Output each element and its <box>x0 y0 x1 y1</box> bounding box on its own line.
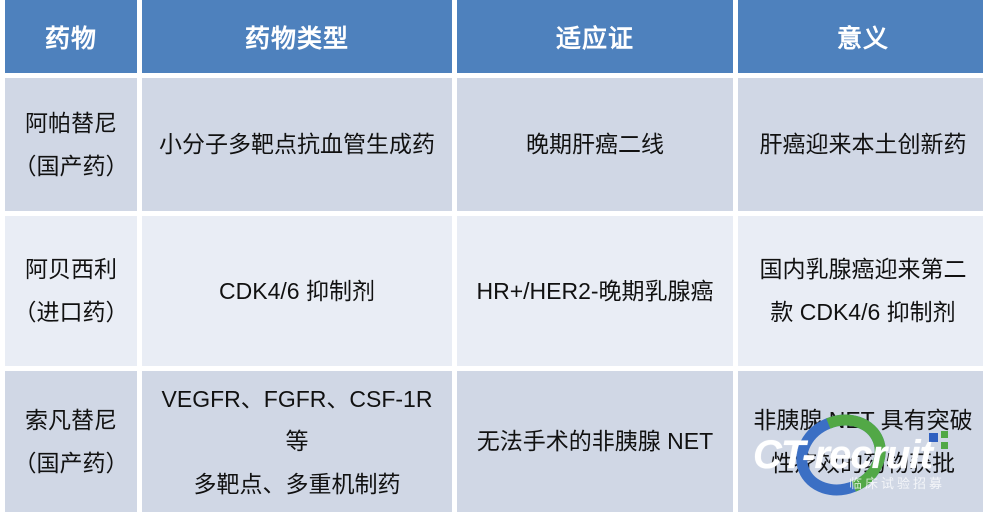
column-header-drug-type: 药物类型 <box>142 0 452 73</box>
significance-line-1: 国内乳腺癌迎来第二 <box>746 248 980 291</box>
significance-line-1: 非胰腺 NET 具有突破 <box>746 399 980 442</box>
cell-indication: HR+/HER2-晚期乳腺癌 <box>457 216 733 366</box>
cell-drug-type: CDK4/6 抑制剂 <box>142 216 452 366</box>
drug-name-text: 阿帕替尼 <box>13 102 129 145</box>
drug-origin-text: （国产药） <box>13 442 129 485</box>
table-row: 阿帕替尼 （国产药） 小分子多靶点抗血管生成药 晚期肝癌二线 肝癌迎来本土创新药 <box>5 78 983 211</box>
drug-type-line-1: VEGFR、FGFR、CSF-1R 等 <box>150 378 444 463</box>
drug-comparison-table: 药物 药物类型 适应证 意义 阿帕替尼 （国产药） 小分子多靶点抗血管生成药 晚… <box>0 0 983 517</box>
column-header-indication: 适应证 <box>457 0 733 73</box>
cell-indication: 无法手术的非胰腺 NET <box>457 371 733 512</box>
table-row: 阿贝西利 （进口药） CDK4/6 抑制剂 HR+/HER2-晚期乳腺癌 国内乳… <box>5 216 983 366</box>
drug-name-text: 阿贝西利 <box>13 248 129 291</box>
drug-origin-text: （进口药） <box>13 291 129 334</box>
significance-line-1: 肝癌迎来本土创新药 <box>746 123 980 166</box>
table-header-row: 药物 药物类型 适应证 意义 <box>5 0 983 73</box>
table-header: 药物 药物类型 适应证 意义 <box>5 0 983 73</box>
column-header-significance: 意义 <box>738 0 983 73</box>
drug-origin-text: （国产药） <box>13 145 129 188</box>
cell-indication: 晚期肝癌二线 <box>457 78 733 211</box>
significance-line-2: 款 CDK4/6 抑制剂 <box>746 291 980 334</box>
drug-name-text: 索凡替尼 <box>13 399 129 442</box>
cell-significance: 非胰腺 NET 具有突破 性疗效的药物获批 <box>738 371 983 512</box>
table-row: 索凡替尼 （国产药） VEGFR、FGFR、CSF-1R 等 多靶点、多重机制药… <box>5 371 983 512</box>
column-header-drug: 药物 <box>5 0 137 73</box>
cell-significance: 肝癌迎来本土创新药 <box>738 78 983 211</box>
significance-line-2: 性疗效的药物获批 <box>746 442 980 485</box>
cell-drug-type: VEGFR、FGFR、CSF-1R 等 多靶点、多重机制药 <box>142 371 452 512</box>
drug-type-line-2: 多靶点、多重机制药 <box>150 463 444 506</box>
cell-drug-type: 小分子多靶点抗血管生成药 <box>142 78 452 211</box>
cell-significance: 国内乳腺癌迎来第二 款 CDK4/6 抑制剂 <box>738 216 983 366</box>
table-body: 阿帕替尼 （国产药） 小分子多靶点抗血管生成药 晚期肝癌二线 肝癌迎来本土创新药… <box>5 78 983 512</box>
drug-comparison-table-container: 药物 药物类型 适应证 意义 阿帕替尼 （国产药） 小分子多靶点抗血管生成药 晚… <box>0 0 983 506</box>
cell-drug-name: 阿帕替尼 （国产药） <box>5 78 137 211</box>
cell-drug-name: 阿贝西利 （进口药） <box>5 216 137 366</box>
cell-drug-name: 索凡替尼 （国产药） <box>5 371 137 512</box>
